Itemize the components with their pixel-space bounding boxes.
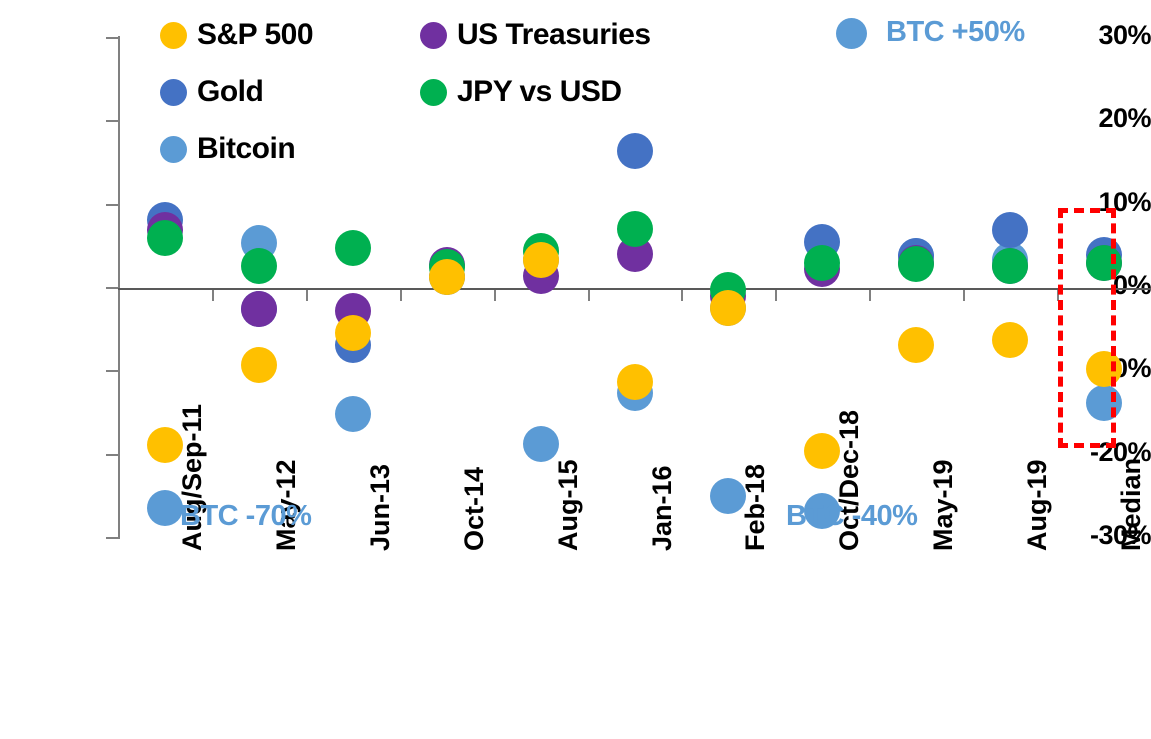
data-point (992, 248, 1028, 284)
legend-dot-us-treasuries (420, 22, 447, 49)
data-point (992, 212, 1028, 248)
btc-plus-50-dot (836, 18, 867, 49)
annotation-btc-minus-40: BTC -40% (786, 500, 917, 533)
data-point (335, 230, 371, 266)
legend-item-jpy-vs-usd[interactable]: JPY vs USD (420, 75, 622, 109)
data-point (992, 322, 1028, 358)
median-highlight-box (1058, 208, 1116, 448)
x-axis-label: Aug-19 (1022, 459, 1053, 551)
x-axis-label: Oct-14 (459, 467, 490, 551)
legend-item-gold[interactable]: Gold (160, 75, 263, 109)
legend-label-gold: Gold (197, 75, 263, 109)
legend-item-sp500[interactable]: S&P 500 (160, 18, 313, 52)
legend-item-bitcoin[interactable]: Bitcoin (160, 132, 295, 166)
data-point (617, 133, 653, 169)
annotation-btc-minus-70: BTC -70% (180, 500, 311, 533)
data-point (617, 364, 653, 400)
x-axis-label: Jan-16 (647, 465, 678, 551)
x-axis-label: Feb-18 (740, 464, 771, 551)
data-point (898, 327, 934, 363)
legend-item-us-treasuries[interactable]: US Treasuries (420, 18, 651, 52)
data-point (335, 315, 371, 351)
data-point (898, 246, 934, 282)
zero-baseline (118, 288, 1151, 290)
y-axis-tick-label: 30% (1047, 20, 1151, 51)
y-axis-line (118, 36, 120, 538)
annotation-btc-plus-50: BTC +50% (886, 16, 1025, 49)
y-axis-tick-label: 20% (1047, 103, 1151, 134)
legend-label-bitcoin: Bitcoin (197, 132, 295, 166)
data-point (429, 259, 465, 295)
data-point (523, 242, 559, 278)
data-point (241, 248, 277, 284)
x-axis-label: Jun-13 (365, 464, 396, 551)
legend-dot-bitcoin (160, 136, 187, 163)
x-axis-label: Median (1116, 458, 1147, 551)
scatter-chart: 30%20%10%0%-10%-20%-30% Aug/Sep-11May-12… (0, 0, 1151, 739)
data-point (617, 211, 653, 247)
legend-dot-jpy-vs-usd (420, 79, 447, 106)
legend-label-us-treasuries: US Treasuries (457, 18, 651, 52)
data-point (523, 426, 559, 462)
data-point (241, 347, 277, 383)
data-point (241, 291, 277, 327)
legend-label-jpy-vs-usd: JPY vs USD (457, 75, 622, 109)
data-point (147, 220, 183, 256)
legend-dot-gold (160, 79, 187, 106)
legend-dot-sp500 (160, 22, 187, 49)
x-axis-label: May-19 (928, 459, 959, 551)
data-point (710, 290, 746, 326)
x-axis-label: Aug-15 (553, 459, 584, 551)
data-point (335, 396, 371, 432)
legend-label-sp500: S&P 500 (197, 18, 313, 52)
